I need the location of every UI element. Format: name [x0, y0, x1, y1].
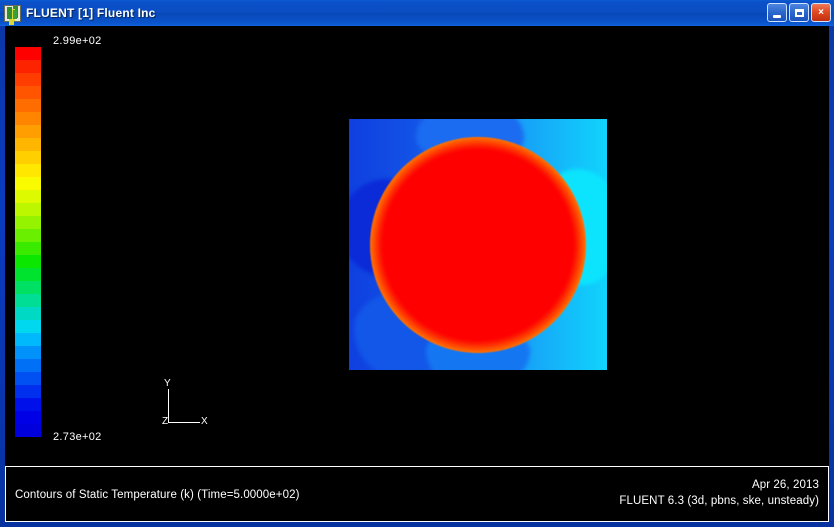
- contour-plot: [349, 119, 607, 370]
- colorbar-band-26: [15, 385, 41, 398]
- colorbar-band-25: [15, 372, 41, 385]
- hot-cylinder-core: [411, 178, 545, 312]
- colorbar-band-9: [15, 164, 41, 177]
- colorbar-band-8: [15, 151, 41, 164]
- close-icon: ×: [818, 8, 824, 18]
- colorbar-band-12: [15, 203, 41, 216]
- axis-y-line: [168, 389, 169, 423]
- colorbar-band-23: [15, 346, 41, 359]
- colorbar-max-label: 2.99e+02: [53, 35, 102, 47]
- colorbar-band-1: [15, 60, 41, 73]
- colorbar-band-10: [15, 177, 41, 190]
- colorbar-band-7: [15, 138, 41, 151]
- colorbar-band-16: [15, 255, 41, 268]
- colorbar-band-19: [15, 294, 41, 307]
- close-button[interactable]: ×: [811, 3, 831, 22]
- colorbar-band-0: [15, 47, 41, 60]
- colorbar-band-14: [15, 229, 41, 242]
- axis-x-line: [168, 422, 200, 423]
- color-legend: 2.99e+02 2.73e+02: [15, 47, 125, 462]
- plot-caption: Contours of Static Temperature (k) (Time…: [15, 489, 300, 501]
- colorbar-band-21: [15, 320, 41, 333]
- axis-y-label: Y: [164, 379, 171, 389]
- colorbar-band-5: [15, 112, 41, 125]
- colorbar-band-18: [15, 281, 41, 294]
- colorbar-band-11: [15, 190, 41, 203]
- colorbar-band-29: [15, 424, 41, 437]
- colorbar-band-27: [15, 398, 41, 411]
- axis-triad: Y X Z: [160, 381, 210, 431]
- colorbar-band-22: [15, 333, 41, 346]
- colorbar-band-15: [15, 242, 41, 255]
- plot-date: Apr 26, 2013: [619, 477, 819, 493]
- colorbar-band-17: [15, 268, 41, 281]
- window-title: FLUENT [1] Fluent Inc: [26, 6, 156, 20]
- colorbar-gradient: [15, 47, 41, 437]
- graphics-canvas[interactable]: 2.99e+02 2.73e+02 Y X Z: [5, 26, 829, 496]
- window-controls: ×: [767, 3, 831, 22]
- minimize-button[interactable]: [767, 3, 787, 22]
- maximize-button[interactable]: [789, 3, 809, 22]
- axis-x-label: X: [201, 417, 208, 427]
- title-bar: FLUENT [1] Fluent Inc ×: [0, 0, 834, 26]
- solver-info: Apr 26, 2013 FLUENT 6.3 (3d, pbns, ske, …: [619, 477, 819, 509]
- fluent-app-icon: [4, 5, 21, 22]
- colorbar-band-28: [15, 411, 41, 424]
- colorbar-min-label: 2.73e+02: [53, 431, 102, 443]
- colorbar-band-24: [15, 359, 41, 372]
- status-panel: Contours of Static Temperature (k) (Time…: [5, 466, 829, 522]
- colorbar-band-20: [15, 307, 41, 320]
- axis-z-label: Z: [162, 417, 168, 427]
- colorbar-band-4: [15, 99, 41, 112]
- colorbar-band-3: [15, 86, 41, 99]
- colorbar-band-2: [15, 73, 41, 86]
- colorbar-band-13: [15, 216, 41, 229]
- colorbar-band-6: [15, 125, 41, 138]
- fluent-window: FLUENT [1] Fluent Inc × 2.99e+02 2.73e+0…: [0, 0, 834, 527]
- solver-version: FLUENT 6.3 (3d, pbns, ske, unsteady): [619, 493, 819, 509]
